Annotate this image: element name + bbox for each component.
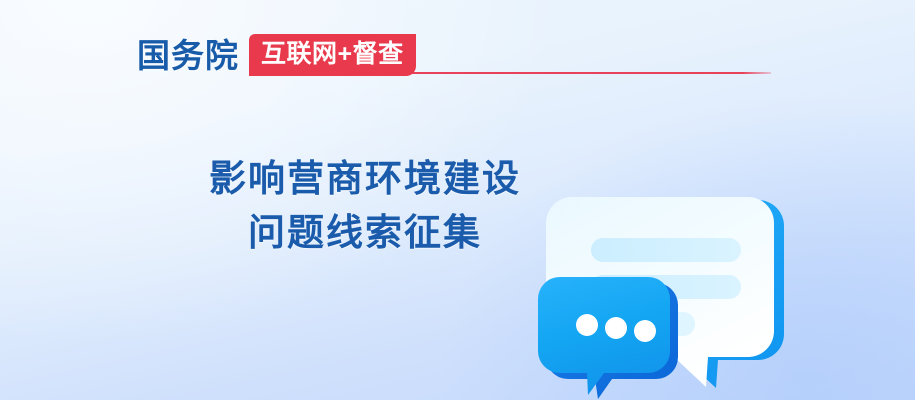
header-divider-line — [411, 72, 771, 74]
promo-banner: 国务院 互联网+督查 影响营商环境建设 问题线索征集 — [0, 0, 915, 400]
typing-dot — [605, 317, 627, 339]
typing-dot — [634, 320, 656, 342]
gov-council-label: 国务院 — [137, 37, 239, 75]
bubble-text-line — [591, 238, 741, 262]
typing-dot — [576, 314, 598, 336]
banner-header: 国务院 互联网+督查 — [137, 33, 416, 75]
internet-plus-supervision-badge: 互联网+督查 — [249, 34, 416, 76]
page-title-line-2: 问题线索征集 — [125, 206, 605, 260]
page-title-line-1: 影响营商环境建设 — [125, 152, 605, 206]
banner-title: 影响营商环境建设 问题线索征集 — [125, 152, 605, 260]
